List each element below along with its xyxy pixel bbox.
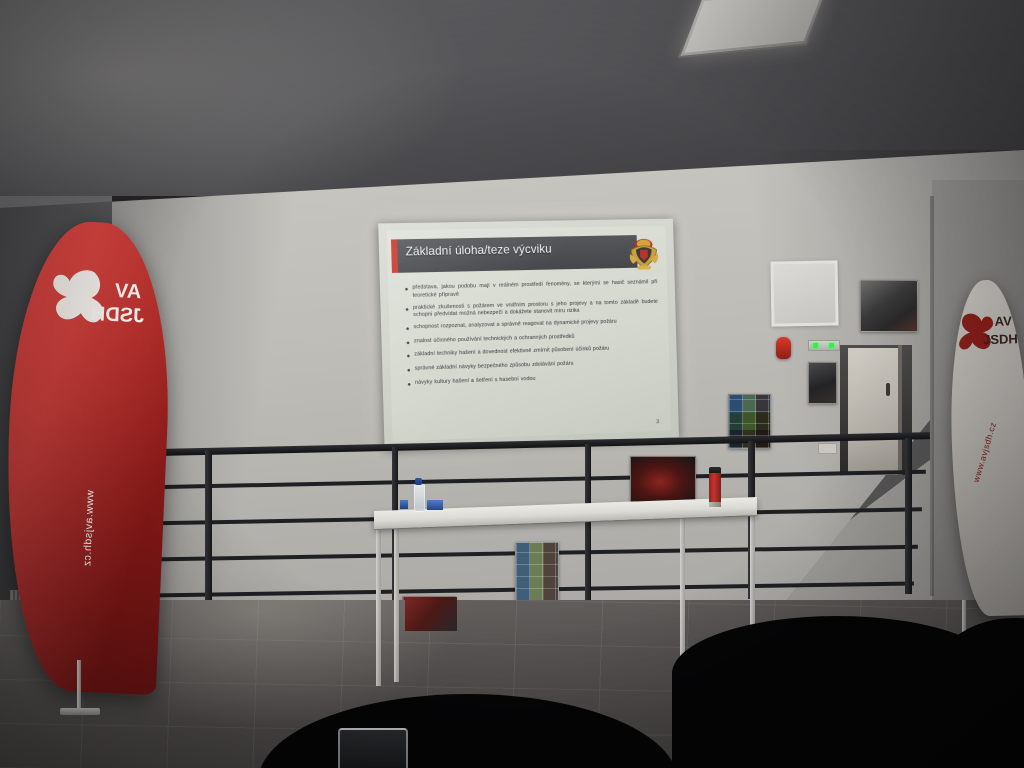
- blue-box: [400, 500, 408, 509]
- banner-right-url: www.avjsdh.cz: [971, 421, 998, 484]
- thermos-base: [709, 502, 721, 507]
- bullet-dot: ●: [405, 285, 409, 300]
- green-emergency-exit-light: [808, 340, 840, 351]
- list-item: ●praktické zkušenosti s požárem ve vnitř…: [405, 298, 658, 320]
- railing-post: [205, 450, 212, 616]
- equipment-under-table: [405, 597, 457, 631]
- table-leg: [376, 520, 381, 686]
- red-thermos-flask: [709, 471, 721, 505]
- door-leaf: [848, 348, 900, 475]
- door-handle[interactable]: [886, 383, 890, 396]
- red-alarm-bell: [776, 337, 791, 359]
- black-chair-far-right: [940, 618, 1024, 768]
- railing-post: [905, 438, 912, 594]
- water-bottle: [414, 484, 425, 512]
- svg-text:AV: AV: [994, 313, 1012, 328]
- ceiling-light-panel: [677, 0, 830, 58]
- drinking-glass: [338, 728, 408, 768]
- avjsdh-logo-icon: AV JSDH: [47, 264, 146, 338]
- slide-page-number: 3: [656, 419, 659, 425]
- banner-left-pole: [77, 660, 81, 712]
- thermos-cap: [709, 467, 721, 473]
- list-item: ●představa, jakou podobu mají v reálném …: [405, 279, 658, 300]
- svg-text:JSDH: JSDH: [90, 303, 144, 327]
- slide-bullet-list: ●představa, jakou podobu mají v reálném …: [405, 279, 661, 393]
- table-leg: [394, 519, 399, 682]
- bullet-dot: ●: [406, 324, 410, 333]
- exit-led: [813, 343, 818, 348]
- exit-led: [829, 343, 834, 348]
- firefighter-team-photo: [808, 362, 837, 404]
- table-leg: [680, 510, 685, 665]
- bullet-dot: ●: [405, 305, 409, 320]
- photo-scene: Základní úloha/teze výcviku ●představa, …: [0, 0, 1024, 768]
- banner-left-base: [60, 708, 100, 715]
- presentation-slide: Základní úloha/teze výcviku ●představa, …: [387, 226, 671, 442]
- wall-light-switch[interactable]: [818, 443, 837, 454]
- svg-text:AV: AV: [114, 280, 142, 303]
- fire-truck-photo: [630, 456, 696, 503]
- door-frame: [898, 345, 902, 475]
- bullet-dot: ●: [407, 366, 411, 375]
- avjsdh-logo-icon: AV JSDH: [956, 307, 1019, 351]
- white-wall-panel: [770, 260, 838, 326]
- blue-box: [427, 500, 443, 510]
- svg-text:JSDH: JSDH: [983, 331, 1018, 347]
- fire-service-emblem: [628, 236, 660, 272]
- ceiling-light-inner: [685, 0, 824, 53]
- smoke-fire-photo: [860, 280, 918, 332]
- projection-screen: Základní úloha/teze výcviku ●představa, …: [378, 219, 679, 449]
- wall-corner: [930, 196, 934, 596]
- bullet-dot: ●: [406, 338, 410, 347]
- bullet-dot: ●: [406, 352, 410, 361]
- railing-post: [585, 444, 591, 604]
- list-item: ●návyky kultury hašení a šetření s haseb…: [407, 371, 660, 389]
- bottle-cap: [415, 478, 422, 485]
- bullet-dot: ●: [407, 379, 411, 388]
